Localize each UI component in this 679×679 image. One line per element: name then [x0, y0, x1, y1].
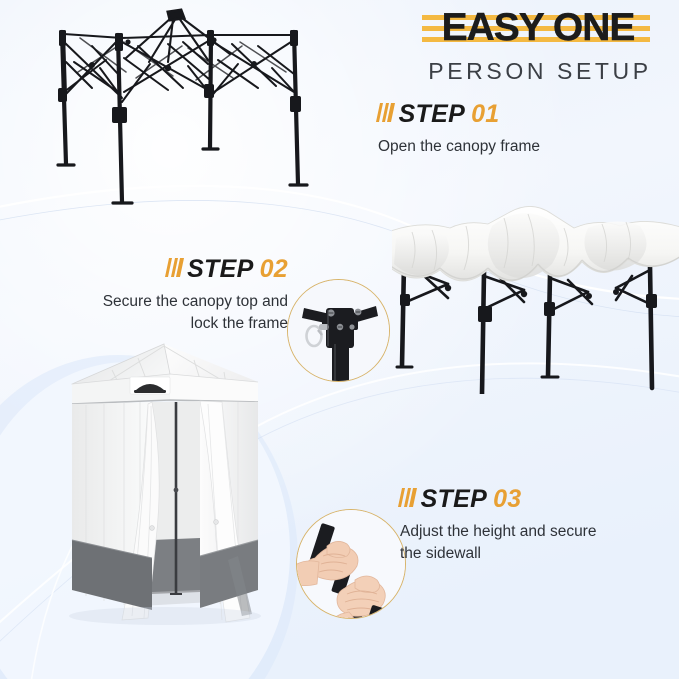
step-03-description-line1: Adjust the height and secure [400, 521, 650, 543]
step-01-word: STEP [399, 100, 466, 129]
title-main-wrap: EASY ONE [436, 6, 645, 51]
step-bars-icon [164, 258, 183, 277]
step-02-word: STEP [187, 255, 254, 284]
step-02-heading: STEP 02 [30, 255, 288, 284]
frame-lock-detail-illustration [288, 280, 390, 382]
step-01-number: 01 [471, 100, 499, 129]
step-03-description-line2: the sidewall [400, 543, 650, 565]
height-adjust-detail-illustration [297, 510, 406, 619]
step-02-description-line2: lock the frame [30, 313, 288, 335]
step-01-description: Open the canopy frame [378, 136, 540, 158]
step-bars-icon [398, 488, 417, 507]
page-title: EASY ONE [442, 8, 635, 49]
step-02-number: 02 [260, 255, 288, 284]
step-03-heading: STEP 03 [400, 485, 650, 514]
height-adjust-inset [296, 509, 406, 619]
step-03-description: Adjust the height and secure the sidewal… [400, 521, 650, 565]
step-bars-icon [376, 103, 395, 122]
canopy-frame-illustration [18, 2, 348, 214]
step-03-number: 03 [493, 485, 521, 514]
title-block: EASY ONE PERSON SETUP [415, 6, 665, 85]
draped-canopy-illustration [392, 198, 679, 394]
step-02-description-line1: Secure the canopy top and [30, 291, 288, 313]
page-subtitle: PERSON SETUP [415, 58, 665, 85]
brand-logo-patch [130, 377, 170, 394]
frame-lock-inset [287, 279, 390, 382]
step-01-label: STEP 01 Open the canopy frame [378, 100, 540, 158]
step-02-description: Secure the canopy top and lock the frame [30, 291, 288, 335]
step-03-word: STEP [421, 485, 488, 514]
step-01-heading: STEP 01 [378, 100, 540, 129]
canopy-tent-illustration [52, 340, 300, 660]
step-02-label: STEP 02 Secure the canopy top and lock t… [30, 255, 288, 335]
step-03-label: STEP 03 Adjust the height and secure the… [400, 485, 650, 565]
